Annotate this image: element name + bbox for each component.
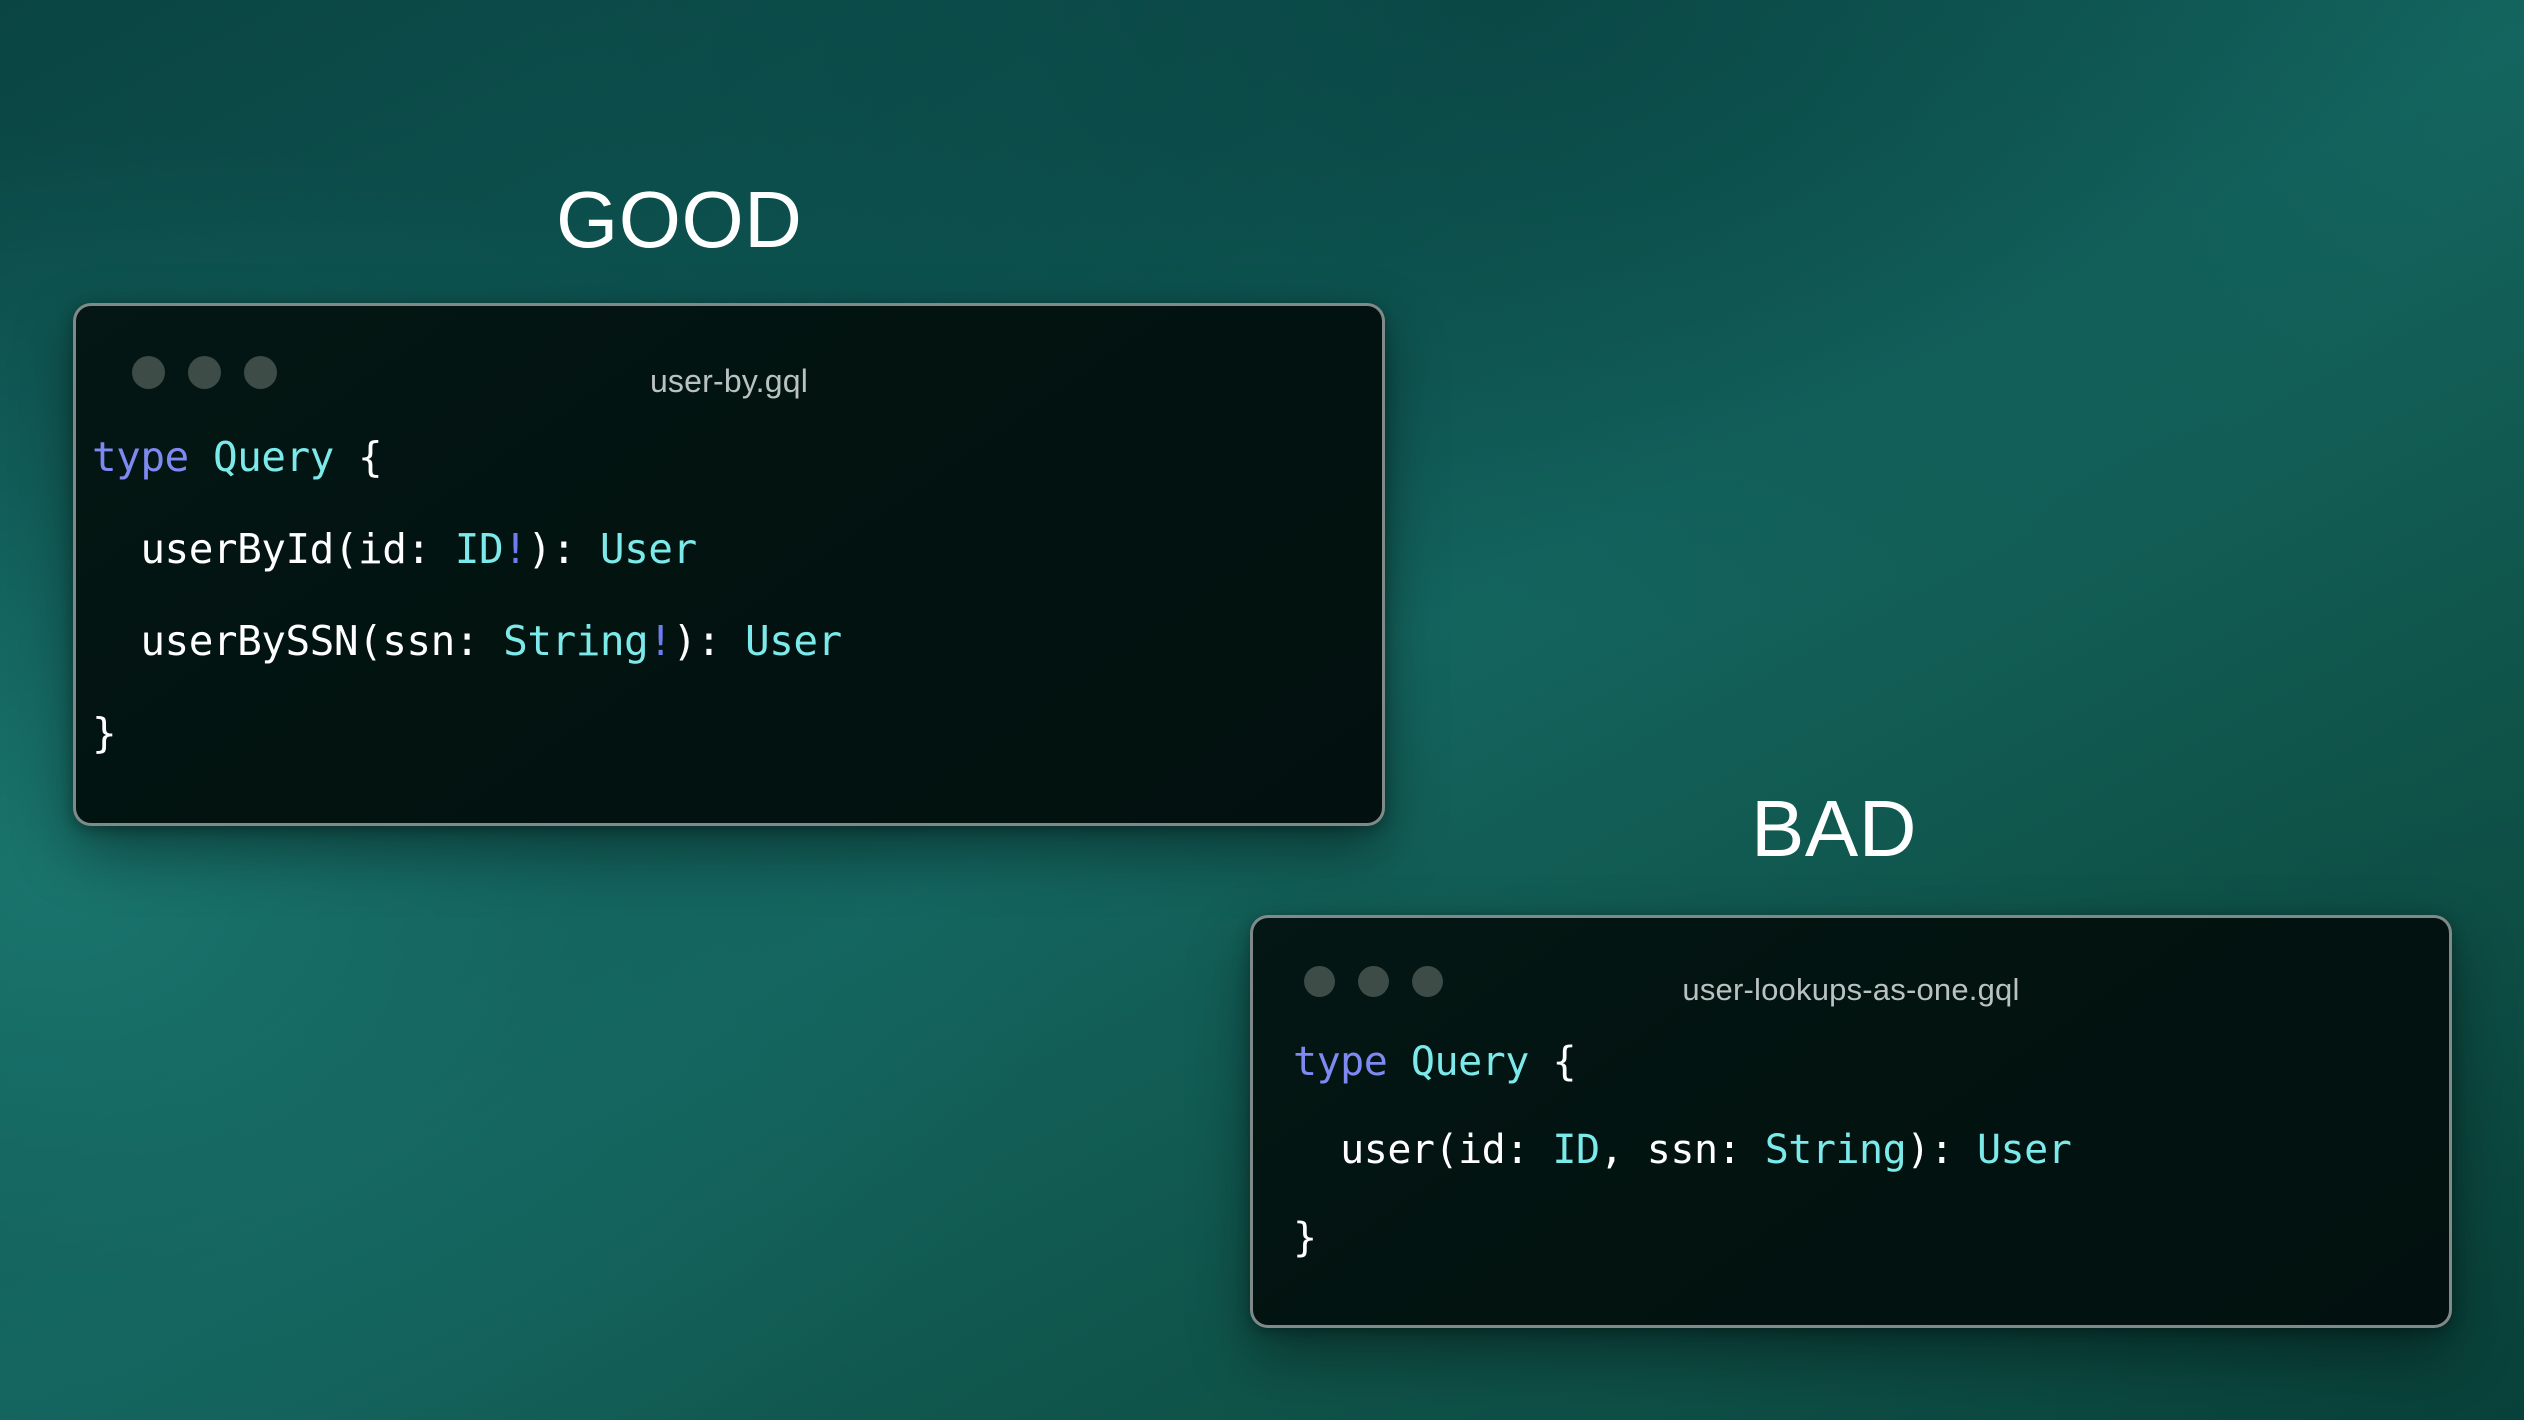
code-token: type xyxy=(92,433,189,481)
code-token: ! xyxy=(503,525,527,573)
code-line: } xyxy=(92,710,1382,756)
window-titlebar-good: user-by.gql xyxy=(76,306,1382,410)
code-token: { xyxy=(358,433,382,481)
code-token: userById(id: xyxy=(140,525,430,573)
code-line: } xyxy=(1293,1216,2449,1260)
code-token: User xyxy=(600,525,697,573)
code-line: userById(id: ID!): User xyxy=(92,526,1382,572)
close-dot-icon[interactable] xyxy=(1304,966,1335,997)
code-token xyxy=(334,433,358,481)
code-line: userBySSN(ssn: String!): User xyxy=(92,618,1382,664)
maximize-dot-icon[interactable] xyxy=(1412,966,1443,997)
section-label-bad: BAD xyxy=(1751,789,1917,869)
code-token: type xyxy=(1293,1039,1387,1085)
minimize-dot-icon[interactable] xyxy=(1358,966,1389,997)
code-block-good: type Query { userById(id: ID!): User use… xyxy=(76,410,1382,756)
section-label-good: GOOD xyxy=(556,180,802,260)
code-token: ! xyxy=(648,617,672,665)
code-line: type Query { xyxy=(1293,1040,2449,1084)
slide-canvas: GOOD user-by.gql type Query { userById(i… xyxy=(0,0,2524,1420)
window-titlebar-bad: user-lookups-as-one.gql xyxy=(1253,918,2449,1018)
code-token: ID xyxy=(1552,1127,1599,1173)
maximize-dot-icon[interactable] xyxy=(244,356,277,389)
code-token: , xyxy=(1600,1127,1624,1173)
code-token: ): xyxy=(1906,1127,1953,1173)
code-token: String xyxy=(1765,1127,1907,1173)
code-token xyxy=(189,433,213,481)
code-token xyxy=(1293,1127,1340,1173)
code-token: userBySSN(ssn: xyxy=(140,617,479,665)
code-token: User xyxy=(745,617,842,665)
code-token: ): xyxy=(527,525,575,573)
code-line: user(id: ID, ssn: String): User xyxy=(1293,1128,2449,1172)
traffic-lights-bad xyxy=(1304,966,1443,997)
code-token xyxy=(576,525,600,573)
code-token xyxy=(431,525,455,573)
code-token: Query xyxy=(213,433,334,481)
code-line: type Query { xyxy=(92,434,1382,480)
minimize-dot-icon[interactable] xyxy=(188,356,221,389)
code-token: } xyxy=(1293,1215,1317,1261)
code-token: ssn: xyxy=(1647,1127,1741,1173)
code-token: ): xyxy=(672,617,720,665)
code-token xyxy=(479,617,503,665)
code-token: } xyxy=(92,709,116,757)
code-token: User xyxy=(1977,1127,2071,1173)
code-token: ID xyxy=(455,525,503,573)
code-window-good: user-by.gql type Query { userById(id: ID… xyxy=(73,303,1385,826)
code-token xyxy=(92,525,140,573)
code-token xyxy=(1529,1039,1553,1085)
code-token xyxy=(721,617,745,665)
code-token xyxy=(1529,1127,1553,1173)
traffic-lights-good xyxy=(132,356,277,389)
code-token xyxy=(1953,1127,1977,1173)
close-dot-icon[interactable] xyxy=(132,356,165,389)
code-token xyxy=(1387,1039,1411,1085)
code-block-bad: type Query { user(id: ID, ssn: String): … xyxy=(1253,1018,2449,1260)
code-token: { xyxy=(1552,1039,1576,1085)
code-token: user(id: xyxy=(1340,1127,1529,1173)
code-token xyxy=(1623,1127,1647,1173)
code-window-bad: user-lookups-as-one.gql type Query { use… xyxy=(1250,915,2452,1328)
code-token xyxy=(92,617,140,665)
code-token: Query xyxy=(1411,1039,1529,1085)
code-token xyxy=(1741,1127,1765,1173)
code-token: String xyxy=(503,617,648,665)
